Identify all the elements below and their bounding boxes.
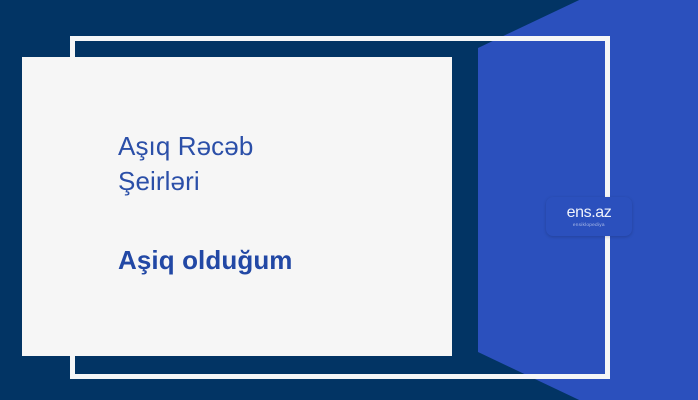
- poem-card-banner: Aşıq Rəcəb Şeirləri Aşiq olduğum ens.az …: [0, 0, 698, 400]
- content-card: Aşıq Rəcəb Şeirləri Aşiq olduğum: [22, 57, 452, 356]
- logo-wordmark: ens.az: [567, 205, 612, 221]
- card-text-block: Aşıq Rəcəb Şeirləri Aşiq olduğum: [118, 129, 434, 277]
- series-title: Aşıq Rəcəb Şeirləri: [118, 129, 434, 198]
- ens-az-logo-badge[interactable]: ens.az ensiklopediya: [546, 197, 632, 236]
- logo-tagline: ensiklopediya: [573, 223, 605, 228]
- poem-title: Aşiq olduğum: [118, 244, 434, 277]
